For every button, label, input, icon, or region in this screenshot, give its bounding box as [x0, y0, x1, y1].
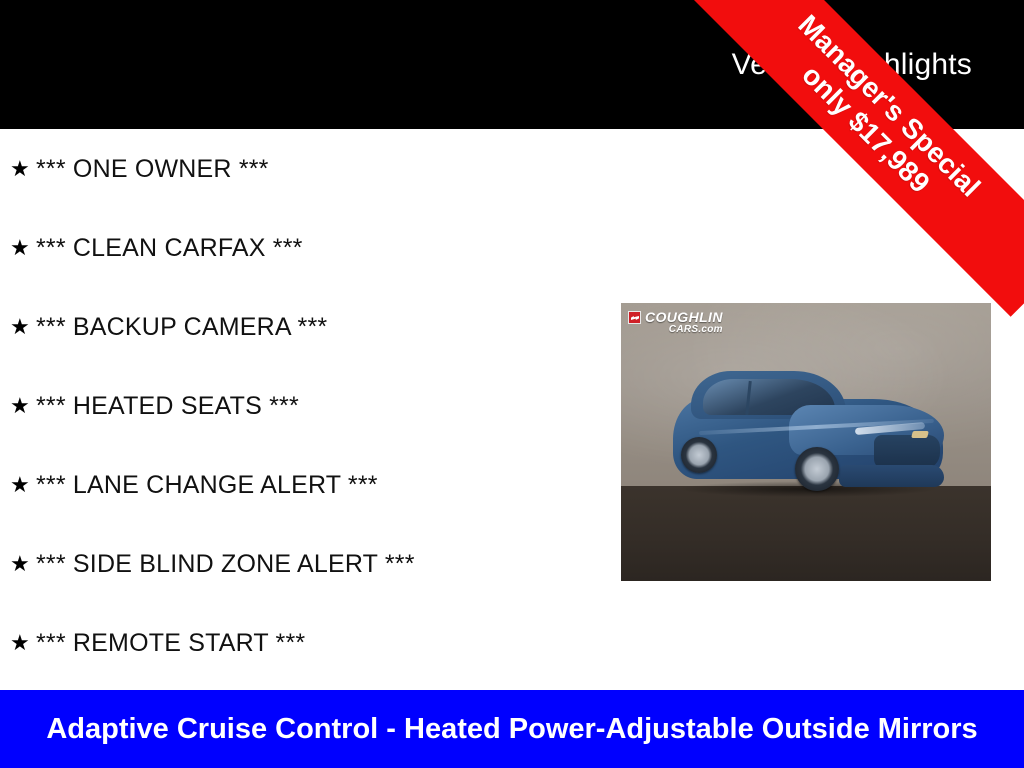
star-icon: ★: [10, 474, 36, 496]
car-rear-wheel: [681, 437, 717, 473]
car-grille: [874, 435, 940, 469]
footer-bar: Adaptive Cruise Control - Heated Power-A…: [0, 690, 1024, 768]
star-icon: ★: [10, 395, 36, 417]
highlight-label: *** SIDE BLIND ZONE ALERT ***: [36, 550, 600, 578]
list-item: ★ *** ONE OWNER ***: [0, 129, 600, 208]
watermark-text: COUGHLIN CARS.com: [645, 310, 723, 335]
highlight-label: *** LANE CHANGE ALERT ***: [36, 471, 600, 499]
dealer-watermark: COUGHLIN CARS.com: [628, 310, 723, 335]
highlight-label: *** HEATED SEATS ***: [36, 392, 600, 420]
list-item: ★ *** CLEAN CARFAX ***: [0, 208, 600, 287]
watermark-line-1: COUGHLIN: [645, 310, 723, 324]
page-title: Vehicle Highlights: [732, 48, 972, 82]
vehicle-photo[interactable]: COUGHLIN CARS.com: [621, 303, 991, 581]
list-item: ★ *** HEATED SEATS ***: [0, 366, 600, 445]
highlight-label: *** ONE OWNER ***: [36, 155, 600, 183]
list-item: ★ *** BACKUP CAMERA ***: [0, 287, 600, 366]
chevrolet-bowtie-icon: [911, 431, 929, 438]
car-front-wheel: [795, 447, 839, 491]
highlight-label: *** CLEAN CARFAX ***: [36, 234, 600, 262]
list-item: ★ *** SIDE BLIND ZONE ALERT ***: [0, 524, 600, 603]
car-bumper: [839, 465, 944, 487]
coughlin-logo-icon: [628, 311, 641, 324]
car-illustration: [669, 365, 949, 510]
footer-feature-text: Adaptive Cruise Control - Heated Power-A…: [46, 710, 977, 748]
star-icon: ★: [10, 632, 36, 654]
vehicle-highlights-page: Vehicle Highlights Manager's Special onl…: [0, 0, 1024, 768]
star-icon: ★: [10, 316, 36, 338]
list-item: ★ *** LANE CHANGE ALERT ***: [0, 445, 600, 524]
star-icon: ★: [10, 158, 36, 180]
highlights-list: ★ *** ONE OWNER *** ★ *** CLEAN CARFAX *…: [0, 129, 600, 682]
highlight-label: *** BACKUP CAMERA ***: [36, 313, 600, 341]
header-bar: Vehicle Highlights: [0, 0, 1024, 129]
star-icon: ★: [10, 553, 36, 575]
star-icon: ★: [10, 237, 36, 259]
list-item: ★ *** REMOTE START ***: [0, 603, 600, 682]
watermark-line-2: CARS.com: [645, 325, 723, 335]
highlight-label: *** REMOTE START ***: [36, 629, 600, 657]
